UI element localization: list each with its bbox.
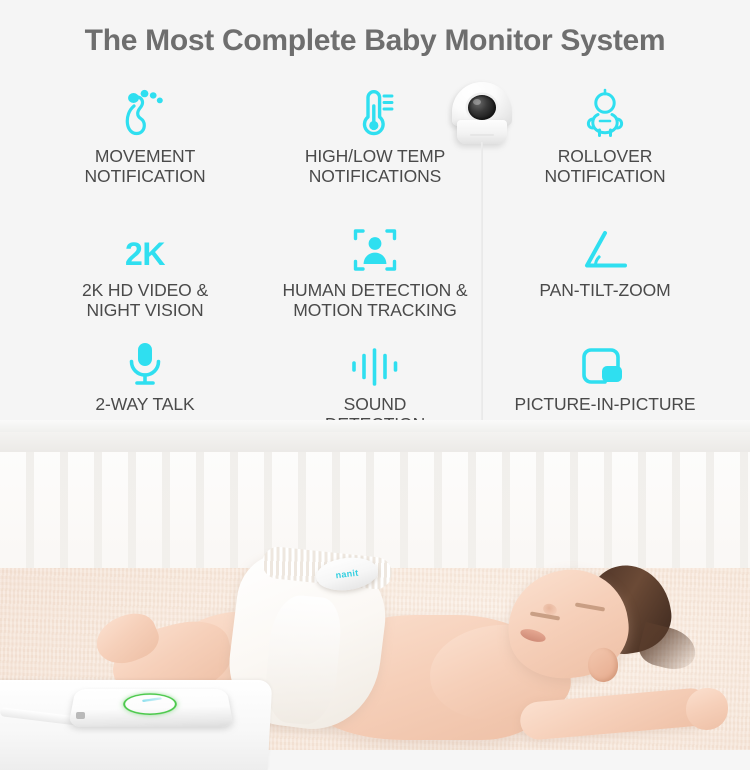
2k-text-icon: 2K — [20, 218, 270, 274]
footprint-icon — [20, 84, 270, 140]
person-detection-frame-icon — [255, 218, 495, 274]
feature-label: PICTURE-IN-PICTURE — [480, 394, 730, 414]
base-station — [68, 689, 234, 727]
feature-label: MOVEMENT NOTIFICATION — [20, 146, 270, 187]
feature-label: 2K HD VIDEO & NIGHT VISION — [20, 280, 270, 321]
2k-text-icon-label: 2K — [125, 238, 165, 274]
base-station-led-ring — [122, 693, 177, 715]
baby-rollover-icon — [480, 84, 730, 140]
feature-movement-notification: MOVEMENT NOTIFICATION — [20, 84, 270, 187]
sound-wave-icon — [255, 332, 495, 388]
feature-2-way-talk: 2-WAY TALK — [20, 332, 270, 414]
angle-icon — [480, 218, 730, 274]
microphone-icon — [20, 332, 270, 388]
feature-picture-in-picture: PICTURE-IN-PICTURE — [480, 332, 730, 414]
base-station-port — [76, 712, 85, 719]
baby-hair-wisp — [636, 622, 700, 674]
feature-label: HUMAN DETECTION & MOTION TRACKING — [255, 280, 495, 321]
feature-label: ROLLOVER NOTIFICATION — [480, 146, 730, 187]
baby-hand — [686, 688, 728, 730]
feature-label: HIGH/LOW TEMP NOTIFICATIONS — [255, 146, 495, 187]
feature-human-detection-motion-tracking: HUMAN DETECTION & MOTION TRACKING — [255, 218, 495, 321]
thermometer-icon — [255, 84, 495, 140]
feature-2k-hd-video-night-vision: 2K 2K HD VIDEO & NIGHT VISION — [20, 218, 270, 321]
feature-rollover-notification: ROLLOVER NOTIFICATION — [480, 84, 730, 187]
page-title: The Most Complete Baby Monitor System — [0, 24, 750, 58]
feature-label: PAN-TILT-ZOOM — [480, 280, 730, 300]
feature-high-low-temp-notifications: HIGH/LOW TEMP NOTIFICATIONS — [255, 84, 495, 187]
sensor-logo: nanit — [335, 568, 359, 581]
feature-pan-tilt-zoom: PAN-TILT-ZOOM — [480, 218, 730, 300]
feature-panel: The Most Complete Baby Monitor System MO… — [0, 0, 750, 420]
picture-in-picture-icon — [480, 332, 730, 388]
feature-label: 2-WAY TALK — [20, 394, 270, 414]
